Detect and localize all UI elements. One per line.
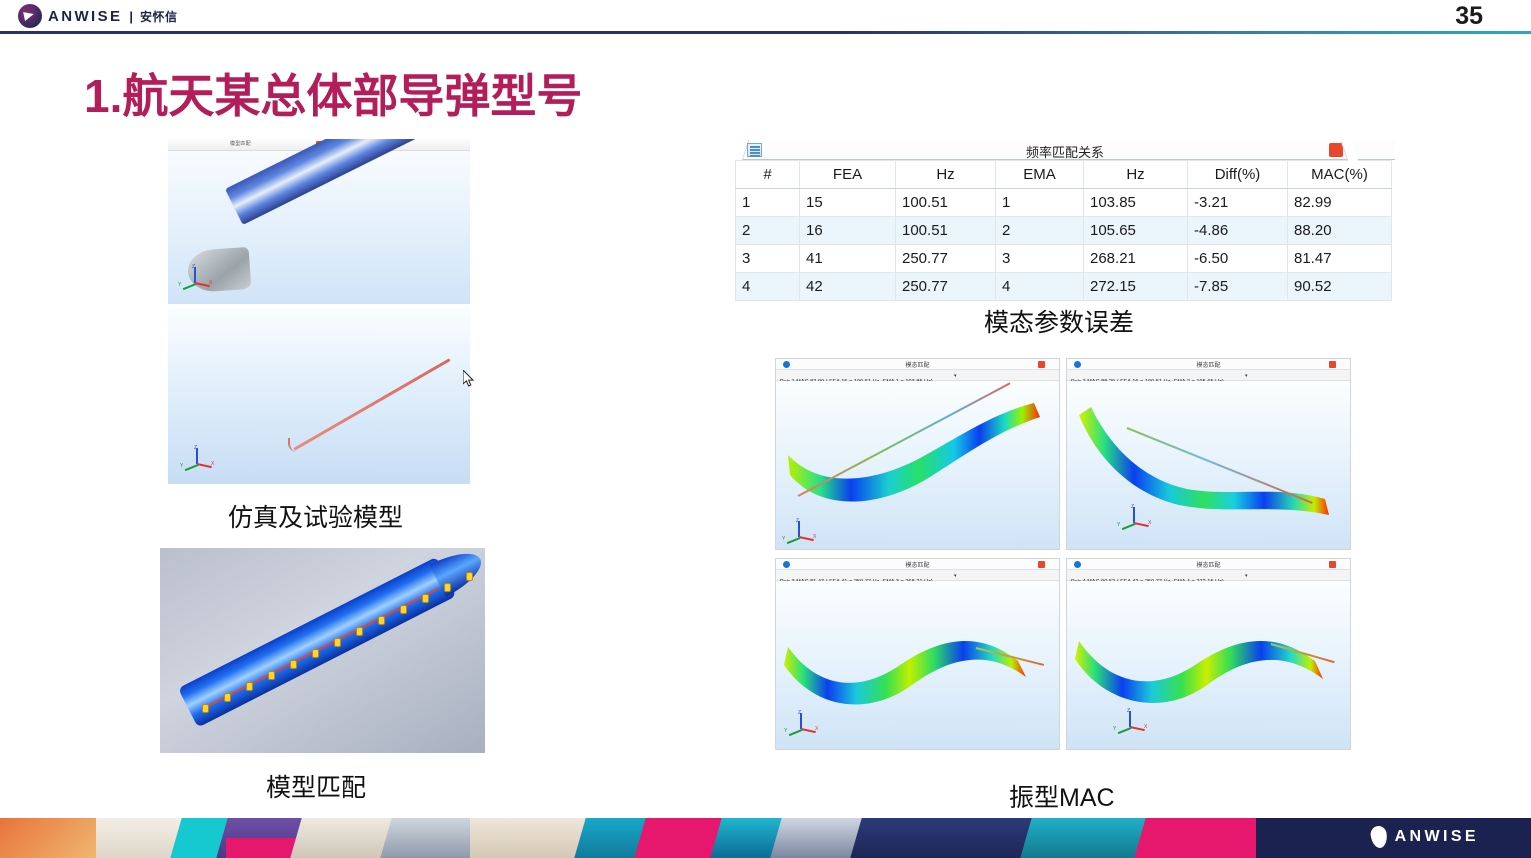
match-node — [444, 583, 451, 592]
axis-triad-1: Z X Y — [784, 521, 818, 547]
mac-panel-3-tab-title: 模态匹配 — [776, 560, 1059, 569]
footer-brand-text: ANWISE — [1395, 828, 1479, 846]
footer-brand: ANWISE — [1371, 826, 1479, 848]
axis-triad-test: Z X Y — [182, 448, 216, 474]
close-icon[interactable] — [1038, 561, 1045, 568]
axis-label-y: Y — [1117, 523, 1120, 528]
cell-ema: 2 — [996, 217, 1084, 245]
match-node — [400, 605, 407, 614]
mac-panel-3[interactable]: 模态匹配 Pair 3 MAC 81.47 ( FEA 41 = 250.77 … — [775, 558, 1060, 750]
match-node — [334, 638, 341, 647]
band-segment — [850, 818, 1041, 858]
cell-fea: 41 — [800, 245, 896, 273]
column-header-fea-hz[interactable]: Hz — [896, 161, 996, 189]
caption-model-matching: 模型匹配 — [266, 768, 366, 804]
mac-panel-1-titlebar: 模态匹配 — [776, 359, 1059, 370]
logo-chinese-name: 安怀信 — [140, 8, 178, 25]
missile-solid-geometry — [188, 165, 454, 295]
band-segment — [470, 818, 590, 858]
viewport-model-matching[interactable] — [159, 547, 486, 754]
viewport-solid-tab-title: 模型匹配 — [230, 140, 251, 147]
caption-sim-model: 仿真及试验模型 — [228, 498, 403, 534]
cell-fea: 15 — [800, 189, 896, 217]
mode-shape-2 — [1075, 393, 1347, 525]
mac-panel-4-titlebar: 模态匹配 — [1067, 559, 1350, 570]
cell-mac: 90.52 — [1288, 273, 1392, 301]
cell-ema: 4 — [996, 273, 1084, 301]
logo-separator: | — [129, 9, 133, 24]
table-row[interactable]: 3 41 250.77 3 268.21 -6.50 81.47 — [736, 245, 1392, 273]
mac-panel-3-canvas[interactable]: Z X Y — [776, 581, 1059, 750]
chevron-down-icon[interactable]: ▾ — [1245, 573, 1248, 579]
anwise-logo-icon — [18, 4, 42, 28]
mode-shape-1 — [782, 395, 1054, 525]
mode-shape-4 — [1075, 605, 1347, 725]
cell-fea: 42 — [800, 273, 896, 301]
column-header-ema-hz[interactable]: Hz — [1084, 161, 1188, 189]
cell-fea: 16 — [800, 217, 896, 245]
axis-label-x: X — [211, 462, 214, 467]
cell-mac: 81.47 — [1288, 245, 1392, 273]
mac-panel-1[interactable]: 模态匹配 Pair 1 MAC 82.99 ( FEA 15 = 100.51 … — [775, 358, 1060, 550]
page-title: 1.航天某总体部导弹型号 — [84, 60, 582, 126]
mac-panel-1-tab-title: 模态匹配 — [776, 360, 1059, 369]
band-segment — [1134, 818, 1269, 858]
mouse-cursor-icon — [463, 370, 475, 387]
cell-ema: 1 — [996, 189, 1084, 217]
axis-triad-4: Z X Y — [1115, 711, 1149, 737]
cell-ema: 3 — [996, 245, 1084, 273]
mac-panel-2-titlebar: 模态匹配 — [1067, 359, 1350, 370]
missile-body — [225, 139, 465, 225]
column-header-index[interactable]: # — [736, 161, 800, 189]
band-segment — [1020, 818, 1151, 858]
close-icon[interactable] — [1329, 561, 1336, 568]
logo-text: ANWISE — [48, 8, 122, 25]
match-node — [202, 704, 209, 713]
close-icon[interactable] — [1038, 361, 1045, 368]
match-node — [466, 572, 473, 581]
mac-panel-4[interactable]: 模态匹配 Pair 4 MAC 90.52 ( FEA 42 = 250.77 … — [1066, 558, 1351, 750]
mac-panel-2[interactable]: 模态匹配 Pair 2 MAC 88.20 ( FEA 16 = 100.51 … — [1066, 358, 1351, 550]
match-node — [290, 660, 297, 669]
mode-shape-3 — [782, 607, 1054, 725]
anwise-logo: ANWISE | 安怀信 — [18, 4, 178, 28]
mac-panel-4-canvas[interactable]: Z X Y — [1067, 581, 1350, 750]
mac-panel-4-pair-select[interactable]: Pair 4 MAC 90.52 ( FEA 42 = 250.77 Hz, E… — [1067, 570, 1350, 581]
axis-label-x: X — [815, 727, 818, 732]
table-header-row: # FEA Hz EMA Hz Diff(%) MAC(%) — [736, 161, 1392, 189]
chevron-down-icon[interactable]: ▾ — [954, 373, 957, 379]
mac-panel-3-pair-select[interactable]: Pair 3 MAC 81.47 ( FEA 41 = 250.77 Hz, E… — [776, 570, 1059, 581]
axis-label-x: X — [813, 535, 816, 540]
cell-fea-hz: 100.51 — [896, 217, 996, 245]
axis-label-z: Z — [798, 711, 801, 716]
slide-header: ANWISE | 安怀信 35 — [0, 0, 1531, 33]
column-header-mac[interactable]: MAC(%) — [1288, 161, 1392, 189]
axis-triad-solid: Z X Y — [180, 267, 214, 293]
axis-label-z: Z — [194, 446, 197, 451]
match-node — [312, 649, 319, 658]
match-node — [356, 627, 363, 636]
frequency-match-titlebar: 频率匹配关系 — [735, 140, 1395, 160]
cell-ema-hz: 105.65 — [1084, 217, 1188, 245]
axis-label-z: Z — [1127, 709, 1130, 714]
frequency-match-window[interactable]: 频率匹配关系 # FEA Hz EMA Hz Diff(%) MAC(%) 1 — [735, 140, 1395, 298]
table-row[interactable]: 1 15 100.51 1 103.85 -3.21 82.99 — [736, 189, 1392, 217]
axis-label-x: X — [1148, 521, 1151, 526]
cell-fea-hz: 100.51 — [896, 189, 996, 217]
mac-panel-3-titlebar: 模态匹配 — [776, 559, 1059, 570]
cell-diff: -3.21 — [1188, 189, 1288, 217]
page-number: 35 — [1455, 2, 1483, 31]
mac-panel-2-pair-select[interactable]: Pair 2 MAC 88.20 ( FEA 16 = 100.51 Hz, E… — [1067, 370, 1350, 381]
viewport-solid-model[interactable]: 模型匹配 Z X Y — [168, 139, 470, 304]
axis-label-y: Y — [1113, 727, 1116, 732]
frequency-match-table: # FEA Hz EMA Hz Diff(%) MAC(%) 1 15 100.… — [735, 160, 1392, 301]
axis-triad-2: Z X Y — [1119, 507, 1153, 533]
caption-mode-mac: 振型MAC — [1009, 778, 1115, 814]
caption-modal-error: 模态参数误差 — [984, 303, 1134, 339]
test-beam-kink — [288, 438, 304, 452]
column-header-diff[interactable]: Diff(%) — [1188, 161, 1288, 189]
slide: ANWISE | 安怀信 35 1.航天某总体部导弹型号 模型匹配 Z X Y — [0, 0, 1531, 858]
viewport-test-model[interactable]: Z X Y — [168, 308, 470, 484]
table-row[interactable]: 4 42 250.77 4 272.15 -7.85 90.52 — [736, 273, 1392, 301]
cell-diff: -4.86 — [1188, 217, 1288, 245]
mac-panel-1-canvas[interactable]: Z X Y — [776, 381, 1059, 550]
mac-panel-2-tab-title: 模态匹配 — [1067, 360, 1350, 369]
column-header-fea[interactable]: FEA — [800, 161, 896, 189]
anwise-footer-icon — [1369, 825, 1388, 849]
match-node — [246, 682, 253, 691]
axis-label-y: Y — [784, 729, 787, 734]
cell-mac: 82.99 — [1288, 189, 1392, 217]
frequency-match-title: 频率匹配关系 — [735, 142, 1395, 161]
cell-ema-hz: 272.15 — [1084, 273, 1188, 301]
cell-diff: -7.85 — [1188, 273, 1288, 301]
cell-diff: -6.50 — [1188, 245, 1288, 273]
match-node — [268, 671, 275, 680]
mac-panel-1-pair-select[interactable]: Pair 1 MAC 82.99 ( FEA 15 = 100.51 Hz, E… — [776, 370, 1059, 381]
chevron-down-icon[interactable]: ▾ — [954, 573, 957, 579]
cell-ema-hz: 103.85 — [1084, 189, 1188, 217]
cell-fea-hz: 250.77 — [896, 245, 996, 273]
close-icon[interactable] — [1329, 143, 1343, 157]
mac-panel-grid: 模态匹配 Pair 1 MAC 82.99 ( FEA 15 = 100.51 … — [775, 358, 1375, 760]
match-node — [422, 594, 429, 603]
axis-label-z: Z — [1131, 505, 1134, 510]
cell-index: 2 — [736, 217, 800, 245]
axis-label-z: Z — [796, 519, 799, 524]
match-node — [224, 693, 231, 702]
column-header-ema[interactable]: EMA — [996, 161, 1084, 189]
cell-index: 3 — [736, 245, 800, 273]
cell-index: 1 — [736, 189, 800, 217]
cell-fea-hz: 250.77 — [896, 273, 996, 301]
footer-band: ANWISE — [0, 818, 1531, 858]
axis-label-y: Y — [180, 464, 183, 469]
axis-label-x: X — [1144, 725, 1147, 730]
cell-ema-hz: 268.21 — [1084, 245, 1188, 273]
axis-label-y: Y — [178, 283, 181, 288]
header-divider — [0, 31, 1531, 34]
mac-panel-2-canvas[interactable]: Z X Y — [1067, 381, 1350, 550]
axis-label-z: Z — [192, 265, 195, 270]
cell-index: 4 — [736, 273, 800, 301]
cell-mac: 88.20 — [1288, 217, 1392, 245]
axis-label-y: Y — [782, 537, 785, 542]
chevron-down-icon[interactable]: ▾ — [1245, 373, 1248, 379]
table-row[interactable]: 2 16 100.51 2 105.65 -4.86 88.20 — [736, 217, 1392, 245]
test-beam-line — [293, 358, 450, 451]
axis-triad-3: Z X Y — [786, 713, 820, 739]
mac-panel-4-tab-title: 模态匹配 — [1067, 560, 1350, 569]
match-node — [378, 616, 385, 625]
close-icon[interactable] — [1329, 361, 1336, 368]
axis-label-x: X — [209, 281, 212, 286]
